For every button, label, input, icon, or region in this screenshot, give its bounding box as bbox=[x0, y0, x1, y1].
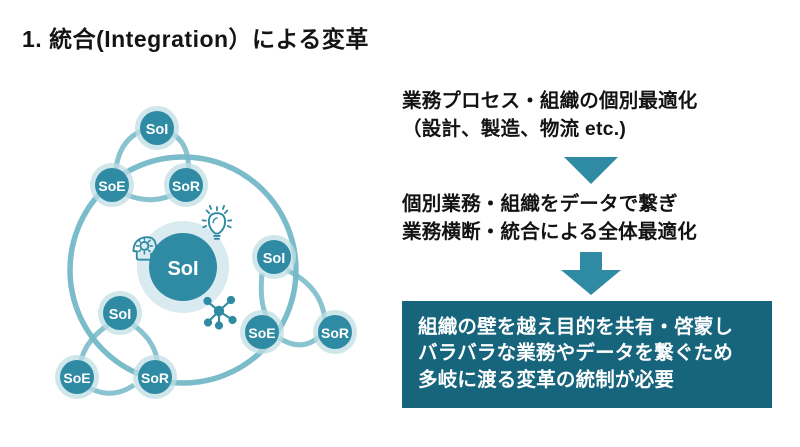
center-node-group: SoI bbox=[137, 221, 229, 313]
callout-text: 組織の壁を越え目的を共有・啓蒙し バラバラな業務やデータを繋ぐため 多岐に渡る変… bbox=[418, 314, 756, 394]
paragraph-2-line-2: 業務横断・統合による全体最適化 bbox=[402, 219, 780, 247]
paragraph-overall-optimization: 個別業務・組織をデータで繋ぎ 業務横断・統合による全体最適化 bbox=[402, 191, 780, 246]
integration-diagram: SoI SoE SoR SoI bbox=[55, 85, 375, 415]
cluster-node: SoR bbox=[133, 355, 177, 399]
paragraph-2-line-1: 個別業務・組織をデータで繋ぎ bbox=[402, 191, 780, 219]
node-label: SoI bbox=[109, 307, 132, 323]
cluster-node: SoR bbox=[313, 310, 357, 354]
callout-line-1: 組織の壁を越え目的を共有・啓蒙し bbox=[418, 314, 756, 341]
cluster-bottom-left: SoI SoE SoR bbox=[55, 291, 177, 399]
paragraph-1-line-1: 業務プロセス・組織の個別最適化 bbox=[402, 88, 780, 116]
cluster-node: SoE bbox=[90, 163, 134, 207]
node-label: SoR bbox=[141, 370, 169, 386]
node-label: SoR bbox=[172, 178, 200, 194]
node-label: SoR bbox=[321, 325, 349, 341]
callout-line-3: 多岐に渡る変革の統制が必要 bbox=[418, 367, 756, 394]
arrow-2-container bbox=[402, 251, 780, 297]
network-nodes-icon bbox=[204, 297, 235, 329]
callout-line-2: バラバラな業務やデータを繋ぐため bbox=[418, 340, 756, 367]
cluster-right: SoI SoE SoR bbox=[240, 235, 357, 354]
node-label: SoI bbox=[146, 122, 169, 138]
node-label: SoI bbox=[263, 251, 286, 267]
node-label: SoE bbox=[248, 325, 275, 341]
right-content-column: 業務プロセス・組織の個別最適化 （設計、製造、物流 etc.) 個別業務・組織を… bbox=[402, 88, 780, 408]
callout-box: 組織の壁を越え目的を共有・啓蒙し バラバラな業務やデータを繋ぐため 多岐に渡る変… bbox=[402, 301, 772, 409]
cluster-node: SoI bbox=[252, 235, 296, 279]
arrow-1-container bbox=[402, 149, 780, 191]
center-node-label: SoI bbox=[167, 258, 198, 280]
cluster-node: SoE bbox=[240, 310, 284, 354]
paragraph-1-line-2: （設計、製造、物流 etc.) bbox=[402, 116, 780, 144]
page-title: 1. 統合(Integration）による変革 bbox=[22, 20, 369, 54]
block-down-arrow bbox=[560, 252, 622, 296]
node-label: SoE bbox=[98, 178, 125, 194]
cluster-node: SoI bbox=[98, 291, 142, 335]
cluster-node: SoE bbox=[55, 355, 99, 399]
cluster-node: SoR bbox=[164, 163, 208, 207]
cluster-node: SoI bbox=[135, 106, 179, 150]
paragraph-individual-optimization: 業務プロセス・組織の個別最適化 （設計、製造、物流 etc.) bbox=[402, 88, 780, 143]
triangle-down-arrow bbox=[564, 157, 618, 184]
node-label: SoE bbox=[63, 370, 90, 386]
